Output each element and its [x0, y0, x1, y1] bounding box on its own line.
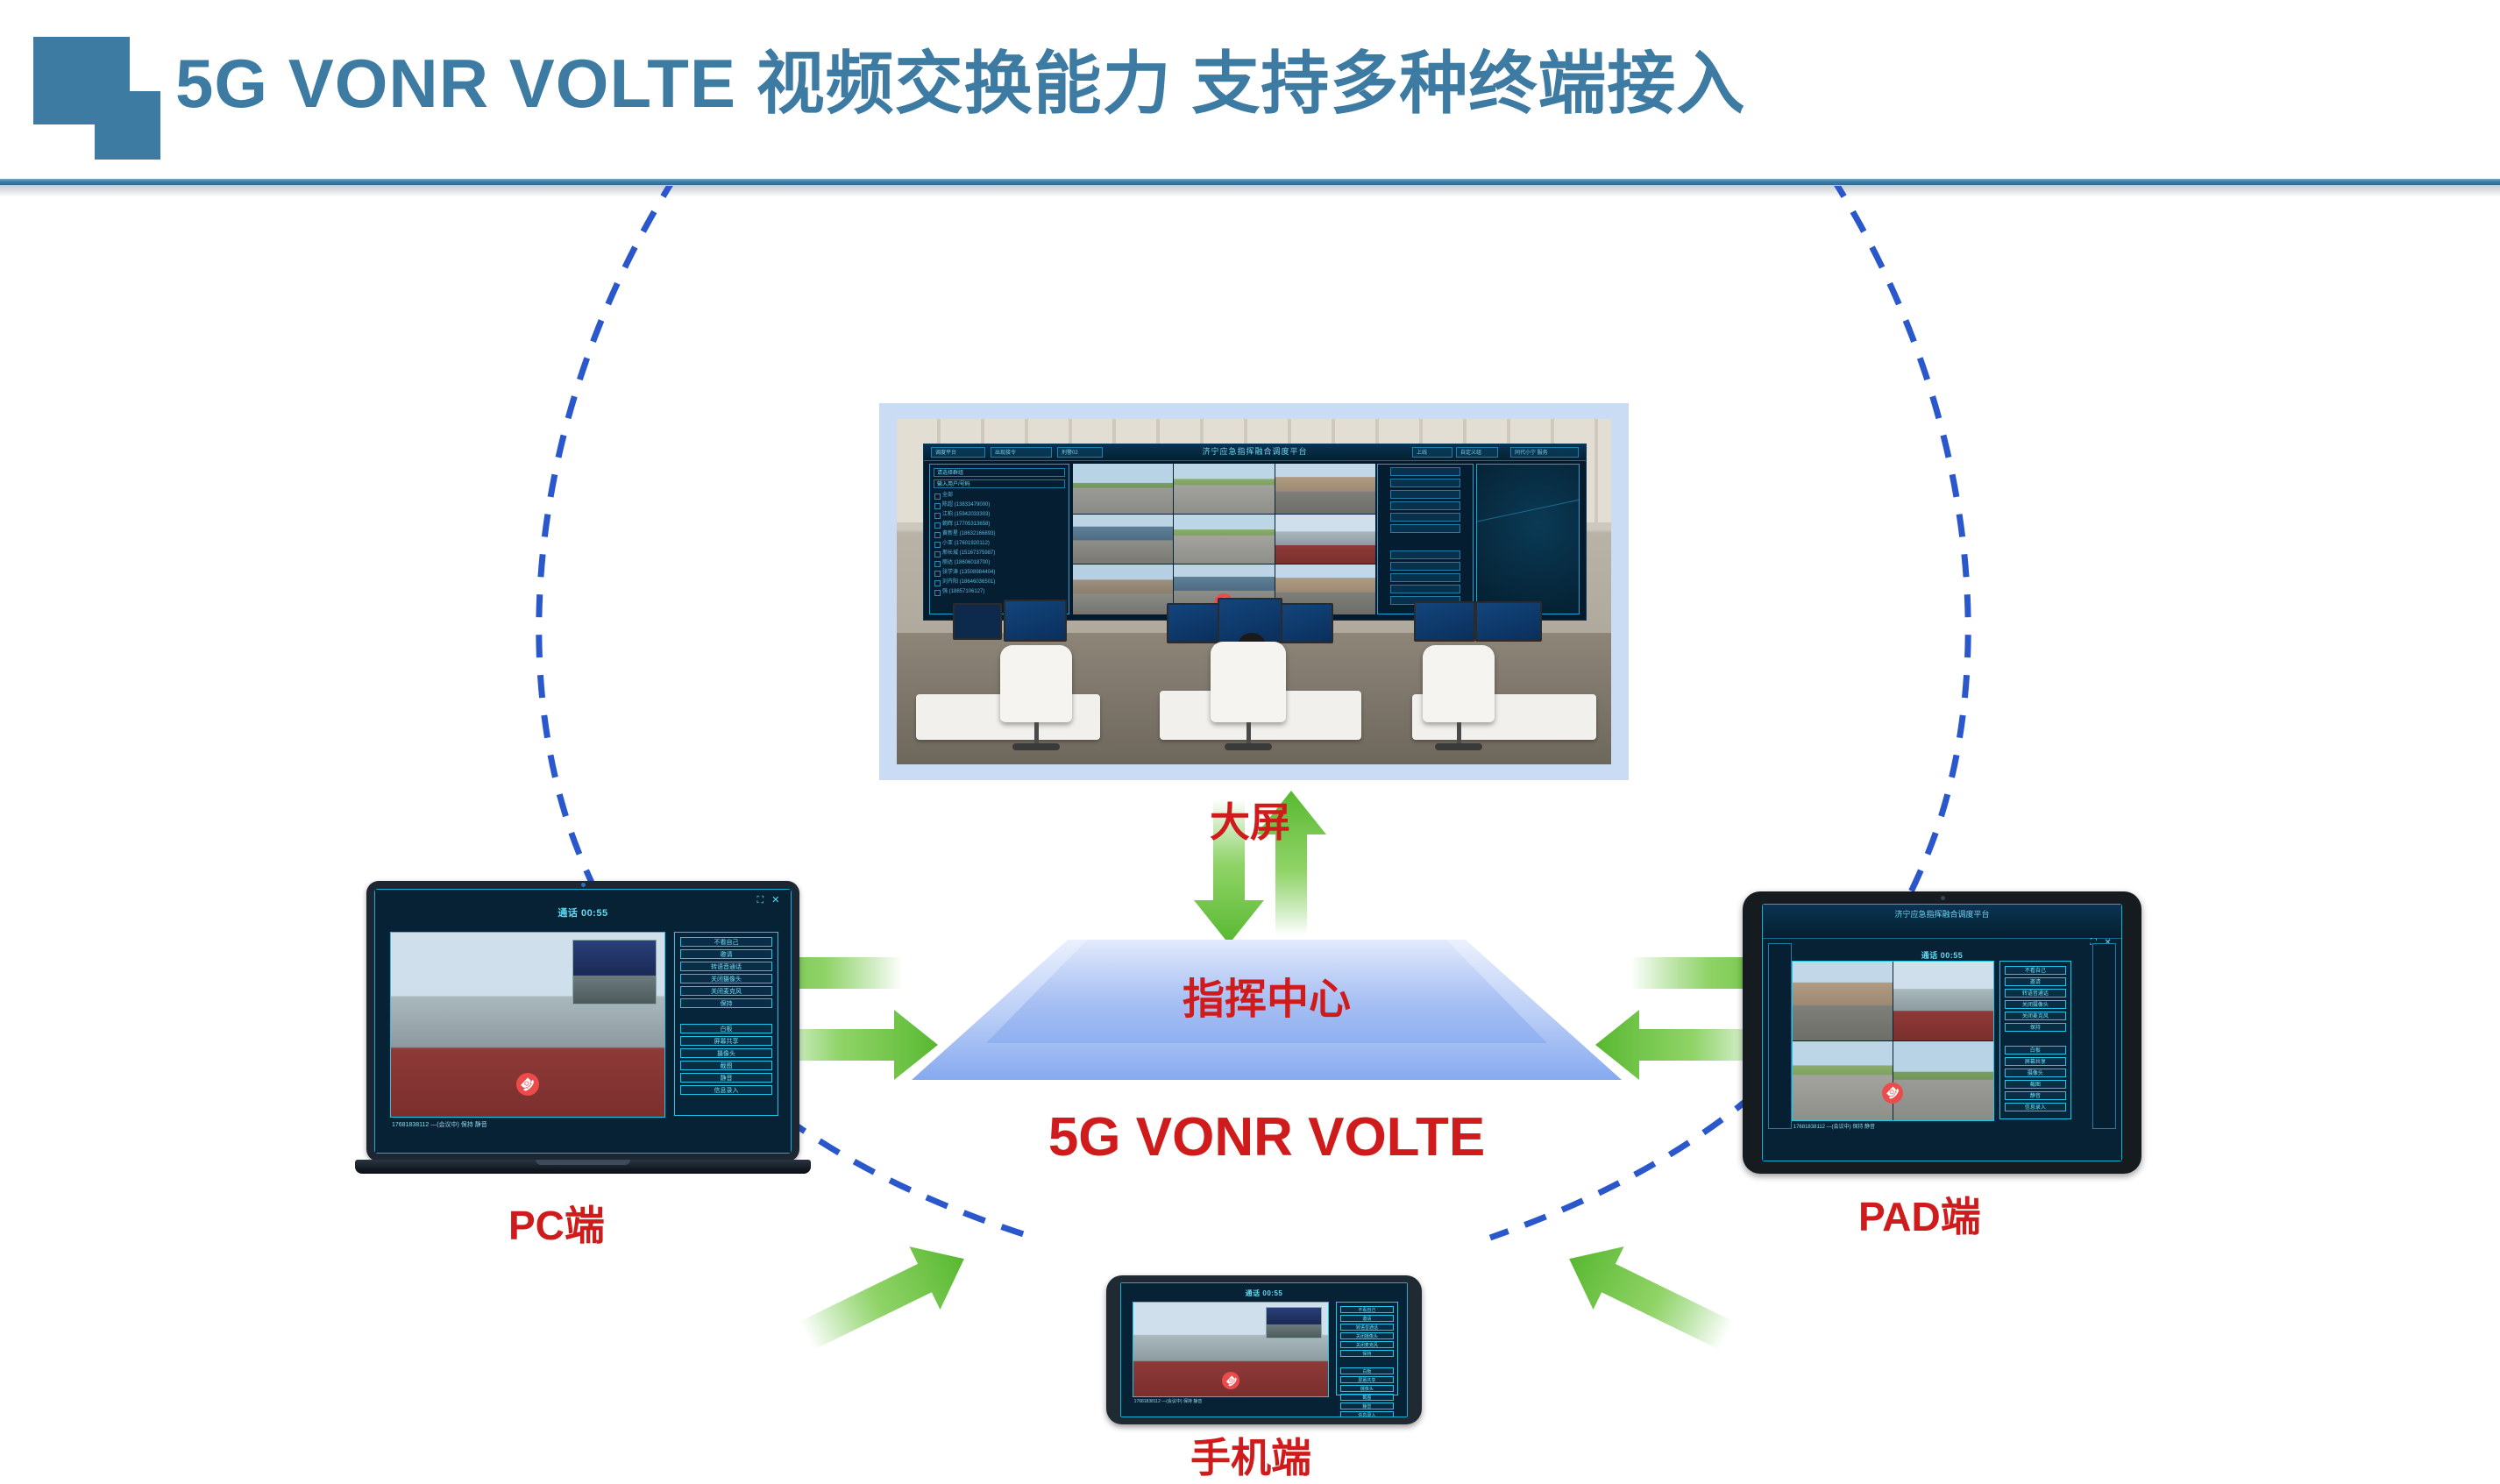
control-btn-hold[interactable]: 保持: [2005, 1023, 2066, 1032]
monitor: [1414, 601, 1475, 642]
topbar-chip-3[interactable]: 上线: [1412, 447, 1452, 458]
wall-control-button[interactable]: [1390, 562, 1460, 571]
call-status-footer: 17681838112 —(会议中) 保持 静音: [1793, 1122, 1875, 1130]
label-bigscreen: 大屏: [1210, 791, 1290, 849]
control-btn-camera[interactable]: 摄像头: [2005, 1069, 2066, 1077]
call-title: 通话 00:55: [375, 905, 791, 920]
webcam-icon: [581, 883, 586, 887]
chair: [1000, 645, 1072, 722]
call-status-footer: 17681838112 —(会议中) 保持 静音: [1134, 1398, 1203, 1404]
video-tile[interactable]: [1793, 962, 1893, 1040]
roster-select-all[interactable]: 全部: [934, 491, 1065, 501]
roster-panel[interactable]: [1768, 943, 1792, 1129]
roster-panel[interactable]: 请选择群组 输入用户/号码 全部 陈超 (13833479000) 江柏 (15…: [929, 464, 1069, 614]
video-tile[interactable]: [1073, 515, 1173, 564]
two-squares-logo-icon: [33, 37, 165, 160]
wall-control-button[interactable]: [1390, 524, 1460, 533]
control-btn-whiteboard[interactable]: 白板: [1340, 1367, 1395, 1374]
control-btn-camera[interactable]: 摄像头: [680, 1048, 772, 1058]
control-btn-mute[interactable]: 静音: [1340, 1402, 1395, 1409]
control-btn-mic-off[interactable]: 关闭麦克风: [2005, 1012, 2066, 1020]
call-app-pad: 济宁应急指挥融合调度平台 ⛶ ✕ 通话 00:55 ☎ 不看自己 邀请 转语音通…: [1762, 904, 2122, 1161]
topbar-chip-5[interactable]: 同代小宁 服务: [1510, 447, 1579, 458]
pip-video[interactable]: [1266, 1307, 1322, 1338]
control-btn-screen-share[interactable]: 屏幕共享: [2005, 1057, 2066, 1066]
video-tile[interactable]: [1275, 464, 1375, 514]
topbar-chip-0[interactable]: 调度平台: [931, 447, 985, 458]
page-title: 5G VONR VOLTE 视频交换能力 支持多种终端接入: [175, 35, 1745, 131]
chair: [1423, 645, 1495, 722]
monitor: [1475, 601, 1542, 642]
control-btn-hold[interactable]: 保持: [680, 998, 772, 1008]
roster-contact[interactable]: 张学涛 (13508984404): [934, 568, 1065, 578]
wall-control-button[interactable]: [1390, 573, 1460, 582]
wall-control-button[interactable]: [1390, 513, 1460, 522]
connector-layer: [0, 186, 2500, 1387]
device-laptop[interactable]: ⛶ ✕ 通话 00:55 ☎ 不看自己 邀请 转语音通话 关闭摄像头 关闭麦克风: [355, 881, 811, 1192]
control-btn-mic-off[interactable]: 关闭麦克风: [680, 986, 772, 996]
hub-subtitle: 5G VONR VOLTE: [912, 1106, 1622, 1168]
control-btn-screen-share[interactable]: 屏幕共享: [680, 1036, 772, 1046]
control-btn-whiteboard[interactable]: 白板: [2005, 1046, 2066, 1054]
page-header: 5G VONR VOLTE 视频交换能力 支持多种终端接入: [0, 0, 2500, 186]
diagram-canvas: 济宁应急指挥融合调度平台 调度平台 出现接令 刑警02 上线 自定义组 同代小宁…: [0, 186, 2500, 1387]
arrow-hub-to-phone-right: [1554, 1227, 1743, 1367]
call-controls-panel: 不看自己 邀请 转语音通话 关闭摄像头 关闭麦克风 保持 白板 屏幕共享 摄像头…: [1999, 961, 2071, 1119]
tablet-body: 济宁应急指挥融合调度平台 ⛶ ✕ 通话 00:55 ☎ 不看自己 邀请 转语音通…: [1743, 891, 2141, 1174]
roster-group-filter[interactable]: 请选择群组: [934, 468, 1065, 477]
wall-control-button[interactable]: [1390, 467, 1460, 476]
pip-video[interactable]: [572, 940, 657, 1004]
wall-control-button[interactable]: [1390, 501, 1460, 510]
control-btn-invite[interactable]: 邀请: [2005, 977, 2066, 986]
monitor: [1004, 600, 1067, 642]
control-btn-camera[interactable]: 摄像头: [1340, 1385, 1395, 1392]
laptop-screen[interactable]: ⛶ ✕ 通话 00:55 ☎ 不看自己 邀请 转语音通话 关闭摄像头 关闭麦克风: [374, 889, 792, 1154]
command-room-scene: 济宁应急指挥融合调度平台 调度平台 出现接令 刑警02 上线 自定义组 同代小宁…: [897, 419, 1611, 764]
map-panel[interactable]: [2092, 943, 2116, 1129]
video-tile[interactable]: [1893, 962, 1993, 1040]
phone-screen[interactable]: 通话 00:55 ☎ 不看自己 邀请 转语音通话 关闭摄像头 关闭麦克风 保持: [1120, 1282, 1408, 1417]
control-btn-no-self-view[interactable]: 不看自己: [680, 937, 772, 947]
video-grid-phone[interactable]: ☎: [1133, 1302, 1329, 1396]
label-phone: 手机端: [1190, 1426, 1311, 1484]
control-btn-switch-to-voice[interactable]: 转语音通话: [680, 962, 772, 971]
wall-control-button[interactable]: [1390, 490, 1460, 499]
control-btn-info-entry[interactable]: 信息录入: [2005, 1103, 2066, 1111]
device-phone[interactable]: 通话 00:55 ☎ 不看自己 邀请 转语音通话 关闭摄像头 关闭麦克风 保持: [1106, 1275, 1422, 1424]
hub-label: 指挥中心: [912, 964, 1622, 1026]
call-controls-panel: 不看自己 邀请 转语音通话 关闭摄像头 关闭麦克风 保持 白板 屏幕共享 摄像头…: [1336, 1302, 1399, 1395]
video-tile[interactable]: [1893, 1041, 1993, 1120]
control-btn-invite[interactable]: 邀请: [680, 949, 772, 959]
wall-control-button[interactable]: [1390, 550, 1460, 559]
video-grid-pc[interactable]: ☎: [390, 932, 666, 1118]
control-btn-hold[interactable]: 保持: [1340, 1350, 1395, 1357]
control-btn-mute[interactable]: 静音: [2005, 1091, 2066, 1100]
video-tile[interactable]: ☎: [391, 933, 665, 1117]
roster-contact[interactable]: 江柏 (15942033303): [934, 510, 1065, 520]
laptop-notch: [536, 1160, 630, 1165]
video-tile[interactable]: [1275, 515, 1375, 564]
control-btn-info-entry[interactable]: 信息录入: [1340, 1411, 1395, 1417]
control-btn-screen-share[interactable]: 屏幕共享: [1340, 1376, 1395, 1383]
label-pc: PC端: [508, 1194, 605, 1252]
chair: [1211, 642, 1286, 722]
webcam-icon: [1941, 896, 1945, 900]
map-panel[interactable]: [1476, 464, 1580, 614]
topbar-chip-2[interactable]: 刑警02: [1057, 447, 1103, 458]
control-btn-switch-to-voice[interactable]: 转语音通话: [2005, 989, 2066, 998]
call-title: 通话 00:55: [1121, 1289, 1407, 1298]
control-btn-camera-off[interactable]: 关闭摄像头: [1340, 1332, 1395, 1339]
roster-contact[interactable]: 小亚 (17601920112): [934, 539, 1065, 549]
roster-search-input[interactable]: 输入用户/号码: [934, 479, 1065, 488]
monitor: [1167, 603, 1219, 643]
control-btn-mute[interactable]: 静音: [680, 1073, 772, 1083]
wall-control-panel[interactable]: [1377, 464, 1474, 614]
topbar-chip-4[interactable]: 自定义组: [1456, 447, 1498, 458]
video-tile[interactable]: [1073, 464, 1173, 514]
roster-contact[interactable]: 朝辉 (17705313658): [934, 520, 1065, 529]
call-status-footer: 17681838112 —(会议中) 保持 静音: [392, 1120, 487, 1129]
label-pad: PAD端: [1858, 1185, 1981, 1243]
roster-contact[interactable]: 刘卉阳 (18646036501): [934, 578, 1065, 587]
device-tablet[interactable]: 济宁应急指挥融合调度平台 ⛶ ✕ 通话 00:55 ☎ 不看自己 邀请 转语音通…: [1743, 891, 2141, 1174]
roster-contact[interactable]: 陈超 (13833479000): [934, 501, 1065, 510]
video-tile[interactable]: [1793, 1041, 1893, 1120]
phone-body: 通话 00:55 ☎ 不看自己 邀请 转语音通话 关闭摄像头 关闭麦克风 保持: [1106, 1275, 1422, 1424]
roster-contact[interactable]: 丽达 (18606018700): [934, 558, 1065, 568]
command-center-hub: 指挥中心: [912, 940, 1622, 1080]
call-controls-panel: 不看自己 邀请 转语音通话 关闭摄像头 关闭麦克风 保持 白板 屏幕共享 摄像头…: [674, 932, 778, 1116]
control-btn-screenshot[interactable]: 截图: [2005, 1080, 2066, 1089]
control-btn-no-self-view[interactable]: 不看自己: [2005, 966, 2066, 975]
control-btn-info-entry[interactable]: 信息录入: [680, 1085, 772, 1095]
video-tile[interactable]: [1174, 464, 1274, 514]
topbar-chip-1[interactable]: 出现接令: [991, 447, 1052, 458]
wall-control-button[interactable]: [1390, 585, 1460, 593]
platform-title: 济宁应急指挥融合调度平台: [1763, 908, 2121, 920]
control-btn-whiteboard[interactable]: 白板: [680, 1024, 772, 1033]
tablet-screen[interactable]: 济宁应急指挥融合调度平台 ⛶ ✕ 通话 00:55 ☎ 不看自己 邀请 转语音通…: [1762, 904, 2122, 1161]
control-btn-no-self-view[interactable]: 不看自己: [1340, 1306, 1395, 1313]
control-btn-screenshot[interactable]: 截图: [1340, 1394, 1395, 1401]
video-tile[interactable]: [1174, 515, 1274, 564]
monitor: [1281, 603, 1333, 643]
bigscreen-photo[interactable]: 济宁应急指挥融合调度平台 调度平台 出现接令 刑警02 上线 自定义组 同代小宁…: [879, 403, 1629, 780]
video-grid-pad[interactable]: ☎: [1792, 961, 1994, 1121]
control-btn-camera-off[interactable]: 关闭摄像头: [680, 974, 772, 983]
control-btn-mic-off[interactable]: 关闭麦克风: [1340, 1341, 1395, 1348]
call-app-phone: 通话 00:55 ☎ 不看自己 邀请 转语音通话 关闭摄像头 关闭麦克风 保持: [1120, 1282, 1408, 1417]
video-grid-bigscreen: ☎: [1073, 464, 1375, 614]
control-btn-invite[interactable]: 邀请: [1340, 1315, 1395, 1322]
video-tile[interactable]: ☎: [1133, 1303, 1328, 1395]
call-app-pc: ⛶ ✕ 通话 00:55 ☎ 不看自己 邀请 转语音通话 关闭摄像头 关闭麦克风: [374, 889, 792, 1154]
wall-control-button[interactable]: [1390, 479, 1460, 487]
roster-contact[interactable]: 邢长城 (15167375987): [934, 549, 1065, 558]
header-divider: [0, 179, 2500, 185]
call-title: 通话 00:55: [1763, 949, 2121, 961]
roster-contact[interactable]: 黄新星 (18632166893): [934, 529, 1065, 539]
logo-square-small: [95, 91, 160, 160]
hangup-icon[interactable]: ☎: [516, 1073, 539, 1096]
arrow-hub-to-phone-left: [792, 1227, 980, 1367]
monitor: [953, 603, 1002, 640]
hangup-icon[interactable]: ☎: [1882, 1083, 1903, 1104]
window-controls[interactable]: ⛶ ✕: [757, 894, 783, 906]
workstation-row: [897, 594, 1611, 764]
control-btn-switch-to-voice[interactable]: 转语音通话: [1340, 1324, 1395, 1331]
control-btn-screenshot[interactable]: 截图: [680, 1061, 772, 1070]
control-btn-camera-off[interactable]: 关闭摄像头: [2005, 1000, 2066, 1009]
laptop-lid: ⛶ ✕ 通话 00:55 ☎ 不看自己 邀请 转语音通话 关闭摄像头 关闭麦克风: [366, 881, 799, 1161]
